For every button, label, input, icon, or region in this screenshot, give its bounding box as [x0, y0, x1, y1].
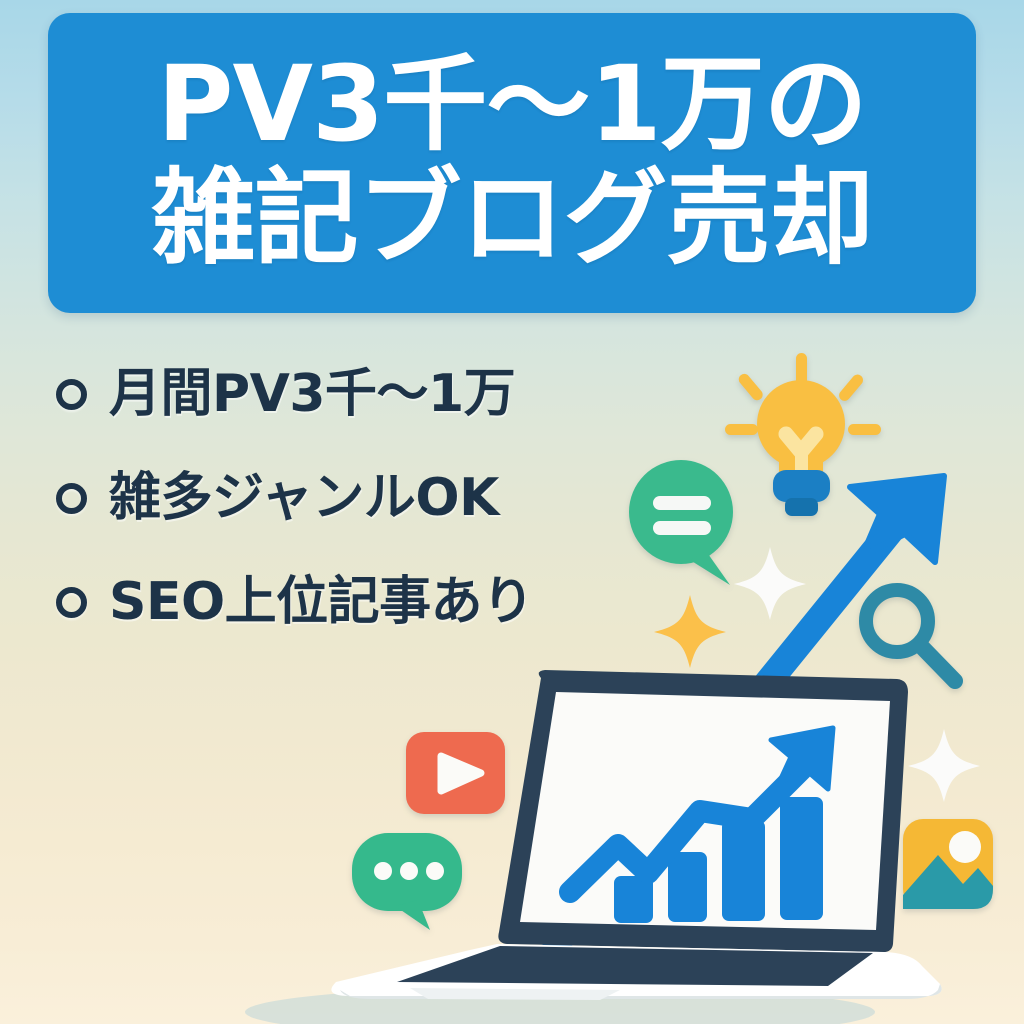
video-play-icon [406, 732, 505, 814]
circle-outline-icon [56, 379, 87, 410]
screen-bar-chart [570, 728, 833, 923]
list-item-label: 月間PV3千〜1万 [109, 368, 515, 420]
list-item: 雑多ジャンルOK [56, 472, 696, 524]
banner-title-line-1: PV3千〜1万の [157, 51, 866, 157]
banner-title-line-2: 雑記ブログ売却 [151, 165, 872, 271]
magnifier-icon [866, 590, 955, 681]
feature-bullet-list: 月間PV3千〜1万 雑多ジャンルOK SEO上位記事あり [56, 368, 696, 628]
laptop-illustration [245, 670, 942, 1024]
sparkle-white-icon [734, 547, 806, 620]
title-banner: PV3千〜1万の 雑記ブログ売却 [48, 13, 976, 313]
list-item-label: SEO上位記事あり [109, 576, 534, 628]
list-item: SEO上位記事あり [56, 576, 696, 628]
circle-outline-icon [56, 483, 87, 514]
circle-outline-icon [56, 587, 87, 618]
photo-icon [903, 819, 993, 909]
sparkle-white-icon [908, 729, 980, 802]
lightbulb-icon [725, 353, 881, 516]
list-item-label: 雑多ジャンルOK [109, 472, 499, 524]
list-item: 月間PV3千〜1万 [56, 368, 696, 420]
chat-bubble-icon [352, 833, 462, 930]
poster-canvas: PV3千〜1万の 雑記ブログ売却 月間PV3千〜1万 雑多ジャンルOK SEO上… [0, 0, 1024, 1024]
